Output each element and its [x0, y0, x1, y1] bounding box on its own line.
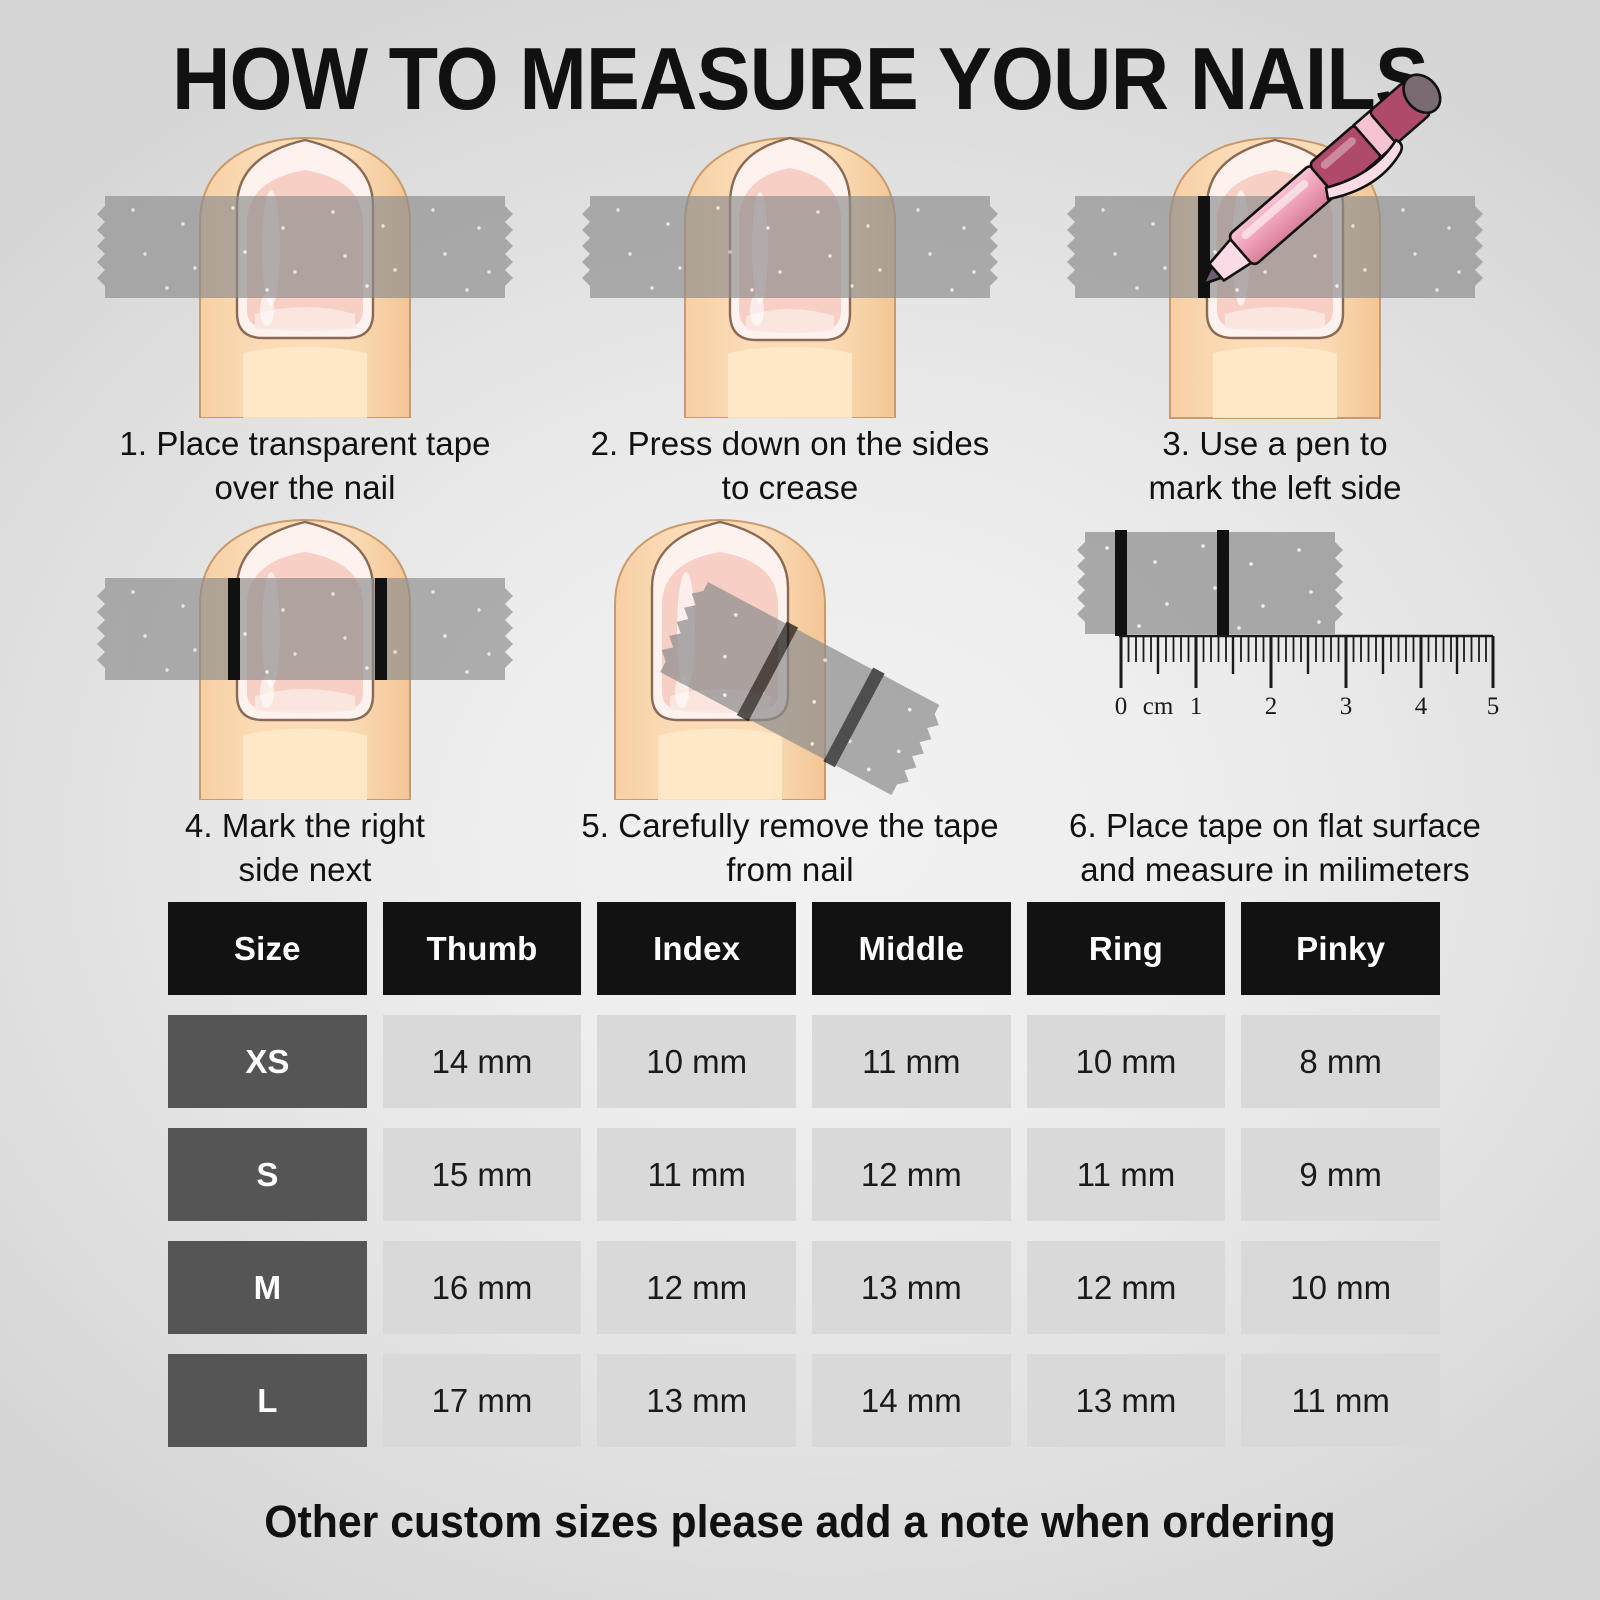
step-4: 4. Mark the right side next	[75, 510, 535, 892]
size-chart-table: Size Thumb Index Middle Ring Pinky XS 14…	[168, 902, 1440, 1447]
table-row-size-m: M	[168, 1241, 367, 1334]
ruler-unit-label: cm	[1143, 693, 1174, 720]
step-6-illustration: 0 cm 1 2 3 4 5	[1045, 510, 1505, 790]
table-header-thumb: Thumb	[383, 902, 582, 995]
step-5-caption: 5. Carefully remove the tape from nail	[560, 804, 1020, 892]
step-5: 5. Carefully remove the tape from nail	[560, 510, 1020, 892]
ruler-labels: 0 cm 1 2 3 4 5	[1115, 693, 1500, 720]
table-header-index: Index	[597, 902, 796, 995]
step-4-illustration	[75, 510, 535, 790]
ruler-tick-1: 1	[1190, 693, 1203, 720]
tape-strip	[582, 196, 998, 298]
tape-strip	[97, 578, 513, 680]
table-cell: 14 mm	[383, 1015, 582, 1108]
table-row-size-l: L	[168, 1354, 367, 1447]
table-cell: 12 mm	[1027, 1241, 1226, 1334]
step-6-caption: 6. Place tape on flat surface and measur…	[1025, 804, 1525, 892]
ruler-tick-2: 2	[1265, 693, 1278, 720]
step-4-caption: 4. Mark the right side next	[75, 804, 535, 892]
table-cell: 16 mm	[383, 1241, 582, 1334]
nail-tape-peeling-icon	[560, 510, 1020, 800]
ruler	[1119, 636, 1493, 688]
step-2: 2. Press down on the sides to crease	[560, 128, 1020, 510]
nail-with-creased-tape-icon	[560, 128, 1020, 418]
right-mark	[375, 578, 387, 680]
table-cell: 12 mm	[597, 1241, 796, 1334]
table-cell: 11 mm	[812, 1015, 1011, 1108]
table-cell: 11 mm	[1027, 1128, 1226, 1221]
left-mark	[228, 578, 240, 680]
table-header-pinky: Pinky	[1241, 902, 1440, 995]
table-header-size: Size	[168, 902, 367, 995]
table-row-size-xs: XS	[168, 1015, 367, 1108]
table-cell: 13 mm	[812, 1241, 1011, 1334]
step-1-illustration	[75, 128, 535, 408]
table-cell: 8 mm	[1241, 1015, 1440, 1108]
page-title: HOW TO MEASURE YOUR NAILS	[64, 28, 1536, 130]
step-3-illustration	[1045, 128, 1505, 408]
step-3: 3. Use a pen to mark the left side	[1045, 128, 1505, 510]
nail-with-tape-icon	[75, 128, 535, 418]
table-cell: 10 mm	[1027, 1015, 1226, 1108]
table-cell: 11 mm	[597, 1128, 796, 1221]
step-6: 0 cm 1 2 3 4 5 6. Place tape on flat sur…	[1045, 510, 1505, 892]
ruler-tick-0: 0	[1115, 693, 1128, 720]
step-1-caption: 1. Place transparent tape over the nail	[75, 422, 535, 510]
tape-strip	[97, 196, 513, 298]
table-cell: 10 mm	[1241, 1241, 1440, 1334]
ruler-tick-5: 5	[1487, 693, 1500, 720]
nail-with-pen-icon	[1045, 128, 1505, 418]
table-cell: 14 mm	[812, 1354, 1011, 1447]
table-header-ring: Ring	[1027, 902, 1226, 995]
footer-note: Other custom sizes please add a note whe…	[40, 1496, 1560, 1548]
step-3-caption: 3. Use a pen to mark the left side	[1045, 422, 1505, 510]
table-cell: 13 mm	[597, 1354, 796, 1447]
infographic-page: HOW TO MEASURE YOUR NAILS	[0, 0, 1600, 1600]
nail-with-two-marks-icon	[75, 510, 535, 800]
table-cell: 15 mm	[383, 1128, 582, 1221]
table-cell: 13 mm	[1027, 1354, 1226, 1447]
tape-mark-1	[1115, 530, 1127, 636]
table-cell: 12 mm	[812, 1128, 1011, 1221]
step-2-caption: 2. Press down on the sides to crease	[560, 422, 1020, 510]
tape-mark-2	[1217, 530, 1229, 636]
table-cell: 17 mm	[383, 1354, 582, 1447]
table-cell: 9 mm	[1241, 1128, 1440, 1221]
step-5-illustration	[560, 510, 1020, 790]
ruler-tick-4: 4	[1415, 693, 1428, 720]
step-1: 1. Place transparent tape over the nail	[75, 128, 535, 510]
step-2-illustration	[560, 128, 1020, 408]
table-cell: 10 mm	[597, 1015, 796, 1108]
tape-with-ruler-icon: 0 cm 1 2 3 4 5	[1045, 510, 1505, 800]
ruler-tick-3: 3	[1340, 693, 1353, 720]
table-header-middle: Middle	[812, 902, 1011, 995]
table-cell: 11 mm	[1241, 1354, 1440, 1447]
table-row-size-s: S	[168, 1128, 367, 1221]
